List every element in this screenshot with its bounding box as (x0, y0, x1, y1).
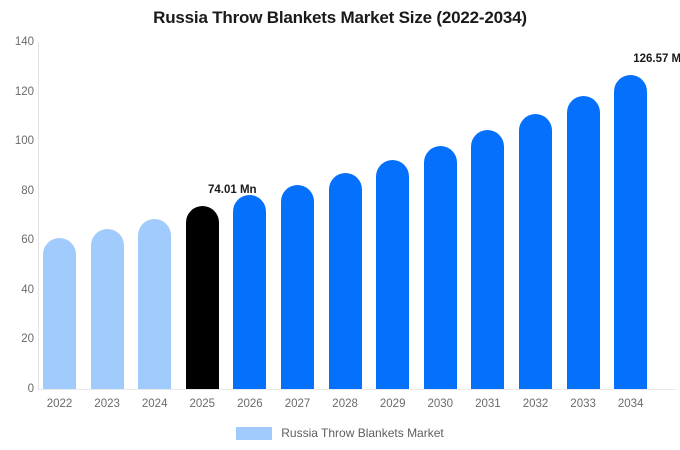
value-label-2025: 74.01 Mn (172, 184, 292, 196)
y-axis-tick-0: 0 (0, 383, 34, 395)
x-axis-tick-2034: 2034 (601, 398, 661, 410)
y-axis-tick-80: 80 (0, 185, 34, 197)
y-axis-tick-40: 40 (0, 284, 34, 296)
legend-label-russia-throw-blankets-market: Russia Throw Blankets Market (281, 426, 444, 440)
bar-2030[interactable] (424, 146, 457, 389)
plot-area: 020406080100120140 202220232024202520262… (0, 0, 680, 450)
bar-2034[interactable] (614, 75, 647, 389)
bar-slot-2027[interactable] (281, 42, 314, 389)
bar-chart: Russia Throw Blankets Market Size (2022-… (0, 0, 680, 450)
bar-slot-2034[interactable] (614, 42, 647, 389)
y-axis-line (38, 42, 39, 389)
y-axis-tick-20: 20 (0, 333, 34, 345)
y-axis-tick-60: 60 (0, 234, 34, 246)
bar-slot-2028[interactable] (329, 42, 362, 389)
x-axis-line (38, 389, 676, 390)
bar-2033[interactable] (567, 96, 600, 389)
bar-2022[interactable] (43, 238, 76, 389)
bar-slot-2032[interactable] (519, 42, 552, 389)
y-axis-tick-120: 120 (0, 86, 34, 98)
bar-slot-2023[interactable] (91, 42, 124, 389)
bar-slot-2030[interactable] (424, 42, 457, 389)
bar-slot-2033[interactable] (567, 42, 600, 389)
bar-2025[interactable] (186, 206, 219, 389)
bar-slot-2026[interactable] (233, 42, 266, 389)
bar-slot-2025[interactable] (186, 42, 219, 389)
y-axis-tick-100: 100 (0, 135, 34, 147)
bar-2028[interactable] (329, 173, 362, 389)
legend-swatch-russia-throw-blankets-market (236, 427, 272, 440)
bar-2027[interactable] (281, 185, 314, 389)
bar-2029[interactable] (376, 160, 409, 389)
bar-2026[interactable] (233, 195, 266, 389)
chart-legend: Russia Throw Blankets Market (0, 426, 680, 440)
bar-2023[interactable] (91, 229, 124, 389)
bar-2031[interactable] (471, 130, 504, 389)
value-label-2034: 126.57 Mn (601, 53, 680, 65)
bar-2032[interactable] (519, 114, 552, 389)
bar-2024[interactable] (138, 219, 171, 389)
bar-slot-2022[interactable] (43, 42, 76, 389)
bar-slot-2029[interactable] (376, 42, 409, 389)
bar-slot-2024[interactable] (138, 42, 171, 389)
bar-slot-2031[interactable] (471, 42, 504, 389)
y-axis-tick-140: 140 (0, 36, 34, 48)
